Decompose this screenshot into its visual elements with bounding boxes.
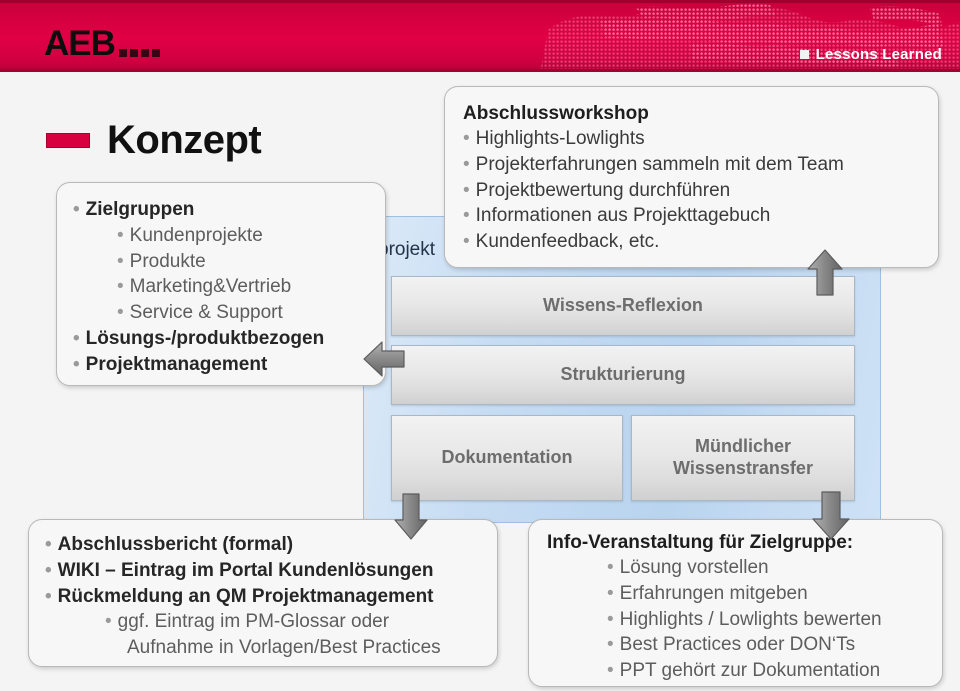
list-item-label: Abschlussbericht (formal) xyxy=(58,534,293,555)
bullet-icon: • xyxy=(463,229,470,255)
list-item-label: Marketing&Vertrieb xyxy=(130,276,292,297)
bullet-icon: • xyxy=(117,223,124,249)
info-veranstaltung-list: •Lösung vorstellen •Erfahrungen mitgeben… xyxy=(547,555,942,684)
list-item-label: Highlights / Lowlights bewerten xyxy=(620,609,882,630)
list-item-label: Rückmeldung an QM Projektmanagement xyxy=(58,586,434,607)
zielgruppen-callout: •Zielgruppen •Kundenprojekte •Produkte •… xyxy=(56,182,386,386)
workshop-list: •Highlights-Lowlights •Projekterfahrunge… xyxy=(463,126,938,255)
page-title-label: Konzept xyxy=(107,120,261,160)
list-item-label: WIKI – Eintrag im Portal Kundenlösungen xyxy=(58,560,434,581)
bullet-icon: • xyxy=(463,178,470,204)
bullet-icon: • xyxy=(117,300,124,326)
title-dash-icon xyxy=(46,133,90,148)
list-item-label: ggf. Eintrag im PM-Glossar oder xyxy=(118,611,389,632)
slide-canvas: AEB Lessons Learned Konzept projekt Wiss… xyxy=(0,0,960,691)
list-item: •Kundenprojekte xyxy=(73,223,385,249)
list-item: •Produkte xyxy=(73,249,385,275)
list-item: •Marketing&Vertrieb xyxy=(73,274,385,300)
header-banner: AEB Lessons Learned xyxy=(0,0,960,72)
list-item-label: Projekterfahrungen sammeln mit dem Team xyxy=(476,154,844,175)
bullet-icon: • xyxy=(105,609,112,635)
list-item-label: Lösung vorstellen xyxy=(620,557,769,578)
list-item-label: Informationen aus Projekttagebuch xyxy=(476,205,771,226)
bullet-icon: • xyxy=(73,197,80,223)
bullet-icon: • xyxy=(607,658,614,684)
list-item: •Informationen aus Projekttagebuch xyxy=(463,203,938,229)
callout-heading: Abschlussworkshop xyxy=(463,103,938,125)
list-item-label: Produkte xyxy=(130,251,206,272)
list-item: •Service & Support xyxy=(73,300,385,326)
process-box-dokumentation[interactable]: Dokumentation xyxy=(391,415,623,501)
list-item: •Erfahrungen mitgeben xyxy=(547,581,942,607)
bullet-icon: • xyxy=(45,584,52,610)
bullet-icon: • xyxy=(607,607,614,633)
process-box-label: Mündlicher Wissenstransfer xyxy=(673,436,813,479)
process-box-muendlicher-wissenstransfer[interactable]: Mündlicher Wissenstransfer xyxy=(631,415,855,501)
process-box-strukturierung[interactable]: Strukturierung xyxy=(391,345,855,405)
list-item-label: PPT gehört zur Dokumentation xyxy=(620,660,881,681)
list-item-label: Projektbewertung durchführen xyxy=(476,180,731,201)
bullet-icon: • xyxy=(607,555,614,581)
list-item: •WIKI – Eintrag im Portal Kundenlösungen xyxy=(45,558,497,584)
list-item-label: Erfahrungen mitgeben xyxy=(620,583,808,604)
bullet-icon: • xyxy=(607,581,614,607)
list-item: •Lösungs-/produktbezogen xyxy=(73,326,385,352)
list-item-label: Lösungs-/produktbezogen xyxy=(86,328,325,349)
list-item: •Rückmeldung an QM Projektmanagement xyxy=(45,584,497,610)
bullet-icon: • xyxy=(73,352,80,378)
arrow-left-icon xyxy=(362,336,406,382)
bullet-icon: • xyxy=(463,126,470,152)
bullet-icon: • xyxy=(117,249,124,275)
abschlussbericht-list: •Abschlussbericht (formal) •WIKI – Eintr… xyxy=(45,532,497,661)
list-item-label: Kundenprojekte xyxy=(130,225,263,246)
list-item: •Kundenfeedback, etc. xyxy=(463,229,938,255)
list-item: •Lösung vorstellen xyxy=(547,555,942,581)
process-box-label: Dokumentation xyxy=(441,447,572,469)
bullet-icon: • xyxy=(463,203,470,229)
bullet-icon: • xyxy=(45,532,52,558)
zielgruppen-list: •Zielgruppen •Kundenprojekte •Produkte •… xyxy=(73,197,385,378)
process-box-wissens-reflexion[interactable]: Wissens-Reflexion xyxy=(391,276,855,336)
list-item: Aufnahme in Vorlagen/Best Practices xyxy=(45,635,497,661)
info-veranstaltung-callout: Info-Veranstaltung für Zielgruppe: •Lösu… xyxy=(528,519,943,687)
bullet-icon: • xyxy=(463,152,470,178)
bullet-icon: • xyxy=(607,632,614,658)
list-item: •Highlights-Lowlights xyxy=(463,126,938,152)
bullet-icon: • xyxy=(117,274,124,300)
list-item-label: Highlights-Lowlights xyxy=(476,128,645,149)
list-item: •Zielgruppen xyxy=(73,197,385,223)
square-bullet-icon xyxy=(800,50,809,59)
list-item-label: Aufnahme in Vorlagen/Best Practices xyxy=(127,637,441,658)
list-item: •Best Practices oder DON‘Ts xyxy=(547,632,942,658)
process-panel-title: projekt xyxy=(378,239,435,261)
logo-dots-icon xyxy=(119,49,160,57)
logo-wordmark: AEB xyxy=(44,26,115,61)
arrow-up-icon xyxy=(805,248,845,298)
arrow-down-transfer-icon xyxy=(810,490,852,542)
list-item-label: Best Practices oder DON‘Ts xyxy=(620,634,855,655)
bullet-icon: • xyxy=(73,326,80,352)
abschlussworkshop-callout: Abschlussworkshop •Highlights-Lowlights … xyxy=(444,86,939,268)
page-title: Konzept xyxy=(46,120,261,160)
list-item: •Projektmanagement xyxy=(73,352,385,378)
list-item: •ggf. Eintrag im PM-Glossar oder xyxy=(45,609,497,635)
arrow-down-documentation-icon xyxy=(392,492,430,542)
list-item: •Projekterfahrungen sammeln mit dem Team xyxy=(463,152,938,178)
list-item-label: Projektmanagement xyxy=(86,354,268,375)
list-item-label: Service & Support xyxy=(130,302,283,323)
list-item-label: Zielgruppen xyxy=(86,199,195,220)
callout-heading: Info-Veranstaltung für Zielgruppe: xyxy=(547,532,942,554)
bullet-icon: • xyxy=(45,558,52,584)
list-item: •PPT gehört zur Dokumentation xyxy=(547,658,942,684)
aeb-logo: AEB xyxy=(44,26,160,61)
list-item: •Projektbewertung durchführen xyxy=(463,178,938,204)
list-item-label: Kundenfeedback, etc. xyxy=(476,231,660,252)
process-box-label: Strukturierung xyxy=(560,364,685,386)
process-box-label: Wissens-Reflexion xyxy=(543,295,703,317)
banner-bottom-rule xyxy=(0,69,960,72)
list-item: •Highlights / Lowlights bewerten xyxy=(547,607,942,633)
lessons-learned-label: Lessons Learned xyxy=(816,46,942,63)
lessons-learned-tag: Lessons Learned xyxy=(800,46,942,63)
